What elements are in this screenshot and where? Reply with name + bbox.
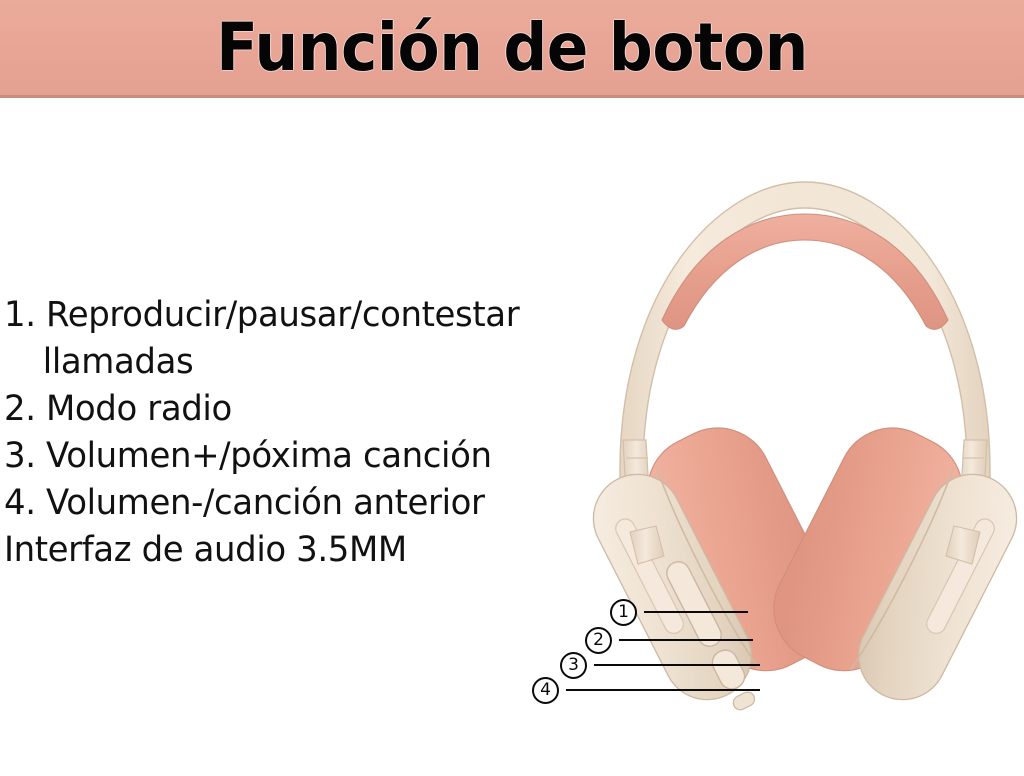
callout-4-badge: 4 [532, 677, 559, 704]
callout-3-badge: 3 [560, 652, 587, 679]
page-title: Función de boton [36, 0, 988, 95]
headphones-illustration [586, 140, 1024, 720]
feature-line: 1. Reproducir/pausar/contestar [4, 292, 605, 339]
infographic-page: { "header": { "title": "Función de boton… [0, 0, 1024, 776]
product-image [586, 140, 1024, 720]
feature-line: 2. Modo radio [4, 386, 605, 433]
feature-list: 1. Reproducir/pausar/contestar llamadas … [4, 292, 624, 574]
header-banner: Función de boton [0, 0, 1024, 98]
feature-line: 3. Volumen+/póxima canción [4, 433, 605, 480]
feature-line: Interfaz de audio 3.5MM [4, 527, 605, 574]
feature-line: 4. Volumen-/canción anterior [4, 480, 605, 527]
aux-port[interactable] [731, 690, 757, 712]
feature-line: llamadas [4, 339, 605, 386]
